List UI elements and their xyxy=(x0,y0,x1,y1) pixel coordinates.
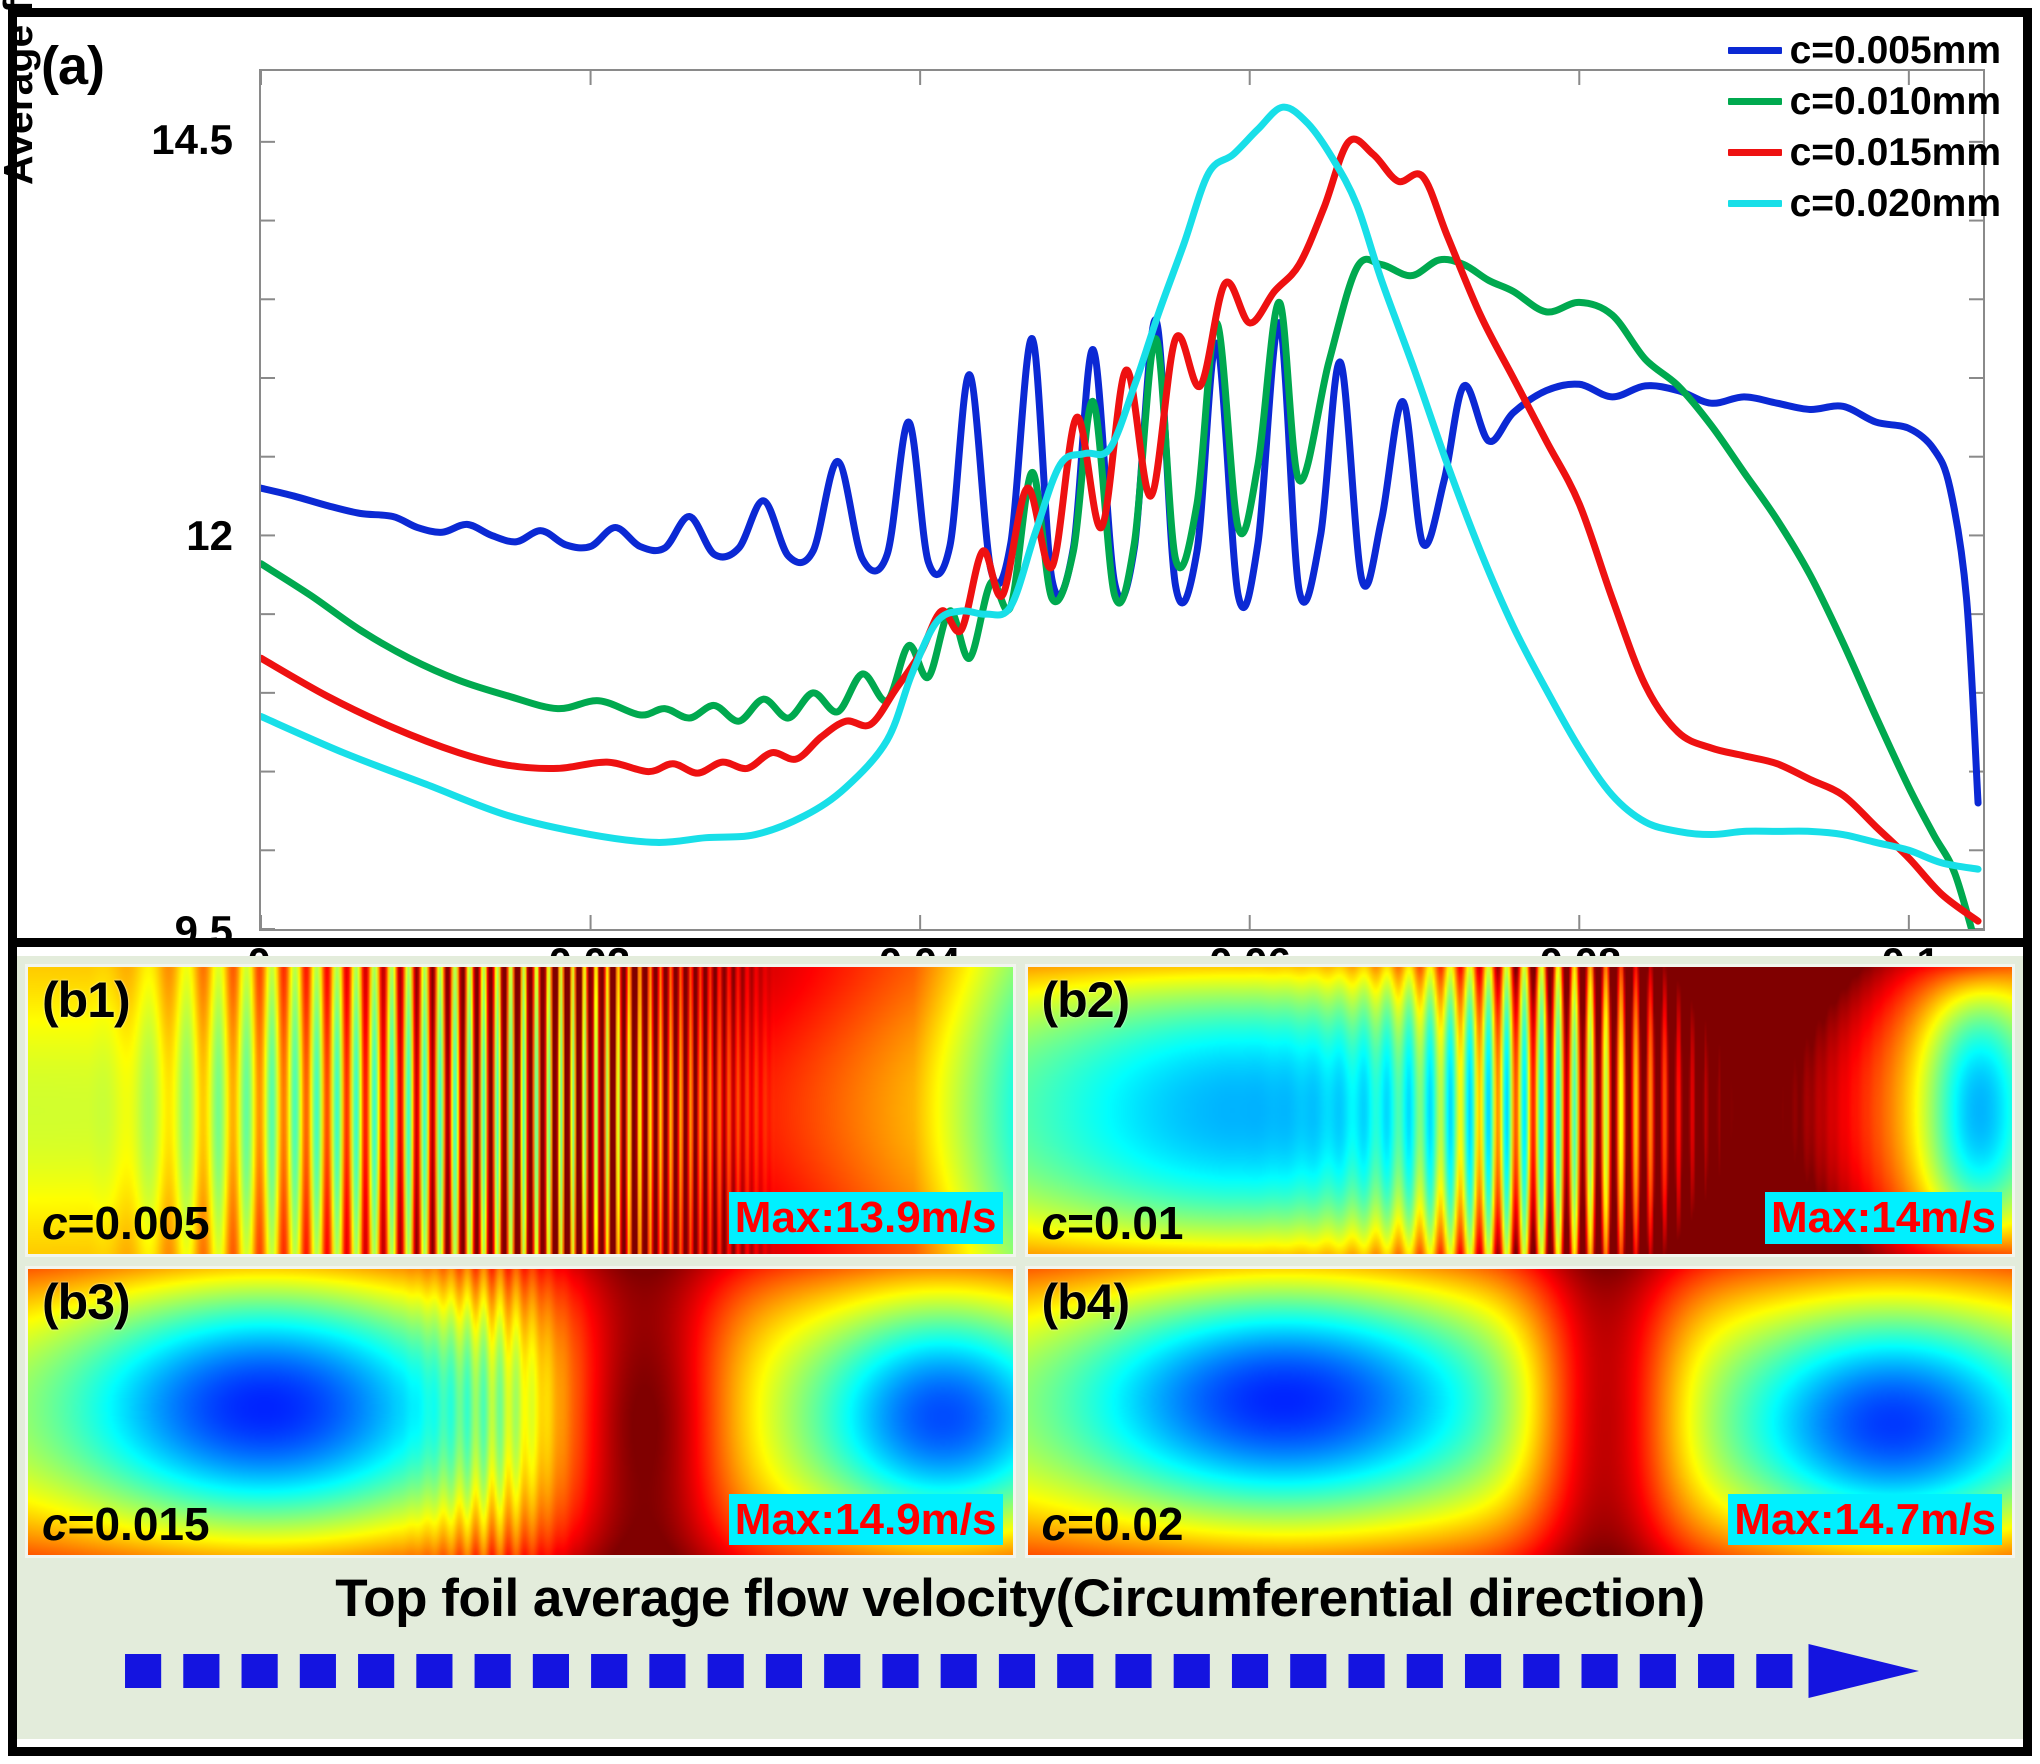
legend-label: c=0.010mm xyxy=(1790,82,2001,121)
y-axis-ticks: 9.51214.5 xyxy=(17,17,249,947)
arrow-head xyxy=(1809,1644,1919,1698)
clearance-value: =0.015 xyxy=(68,1498,210,1550)
heatmap-clearance-label: c=0.01 xyxy=(1042,1196,1184,1250)
heatmap-max-badge: Max:14.9m/s xyxy=(729,1494,1003,1545)
y-tick-label: 9.5 xyxy=(175,907,233,955)
direction-arrow-svg xyxy=(121,1644,1919,1698)
legend-color-swatch xyxy=(1728,98,1782,105)
legend-label: c=0.015mm xyxy=(1790,133,2001,172)
heatmap-panel-b3: (b3)c=0.015Max:14.9m/s xyxy=(25,1266,1016,1559)
clearance-value: =0.005 xyxy=(68,1197,210,1249)
heatmap-max-badge: Max:13.9m/s xyxy=(729,1192,1003,1243)
legend-label: c=0.020mm xyxy=(1790,184,2001,223)
heatmap-panel-b1: (b1)c=0.005Max:13.9m/s xyxy=(25,964,1016,1257)
chart-series-group xyxy=(261,107,1978,929)
heatmap-panel-tag: (b4) xyxy=(1042,1273,1130,1331)
y-tick-label: 12 xyxy=(186,512,233,560)
legend-color-swatch xyxy=(1728,47,1782,54)
legend-item[interactable]: c=0.005mm xyxy=(1728,31,2001,70)
heatmap-grid: (b1)c=0.005Max:13.9m/s(b2)c=0.01Max:14m/… xyxy=(25,964,2015,1558)
clearance-symbol: c xyxy=(42,1197,68,1249)
legend-label: c=0.005mm xyxy=(1790,31,2001,70)
clearance-value: =0.02 xyxy=(1067,1498,1183,1550)
y-tick-label: 14.5 xyxy=(151,116,233,164)
heatmap-max-badge: Max:14.7m/s xyxy=(1728,1494,2002,1545)
heatmap-max-badge: Max:14m/s xyxy=(1765,1192,2002,1243)
legend-item[interactable]: c=0.020mm xyxy=(1728,184,2001,223)
clearance-symbol: c xyxy=(1042,1498,1068,1550)
heatmap-caption: Top foil average flow velocity(Circumfer… xyxy=(17,1568,2023,1629)
clearance-symbol: c xyxy=(42,1498,68,1550)
heatmap-clearance-label: c=0.015 xyxy=(42,1497,210,1551)
chart-series-line-2 xyxy=(261,139,1978,921)
clearance-symbol: c xyxy=(1042,1197,1068,1249)
chart-svg xyxy=(261,71,1983,929)
legend-item[interactable]: c=0.010mm xyxy=(1728,82,2001,121)
legend-color-swatch xyxy=(1728,200,1782,207)
chart-legend: c=0.005mmc=0.010mmc=0.015mmc=0.020mm xyxy=(1728,31,2001,223)
heatmap-panel-b2: (b2)c=0.01Max:14m/s xyxy=(1025,964,2016,1257)
panel-a: (a) Average flow velocity(unit: m/s) 9.5… xyxy=(17,17,2023,947)
figure-root: (a) Average flow velocity(unit: m/s) 9.5… xyxy=(0,0,2040,1764)
heatmap-panel-b4: (b4)c=0.02Max:14.7m/s xyxy=(1025,1266,2016,1559)
direction-arrow xyxy=(121,1644,1919,1698)
heatmap-clearance-label: c=0.02 xyxy=(1042,1497,1184,1551)
chart-series-line-3 xyxy=(261,107,1978,869)
heatmap-panel-tag: (b2) xyxy=(1042,971,1130,1029)
panel-b: (b1)c=0.005Max:13.9m/s(b2)c=0.01Max:14m/… xyxy=(17,956,2023,1739)
heatmap-panel-tag: (b3) xyxy=(42,1273,130,1331)
chart-plot-area xyxy=(259,69,1985,931)
heatmap-clearance-label: c=0.005 xyxy=(42,1196,210,1250)
legend-color-swatch xyxy=(1728,149,1782,156)
legend-item[interactable]: c=0.015mm xyxy=(1728,133,2001,172)
clearance-value: =0.01 xyxy=(1067,1197,1183,1249)
heatmap-panel-tag: (b1) xyxy=(42,971,130,1029)
